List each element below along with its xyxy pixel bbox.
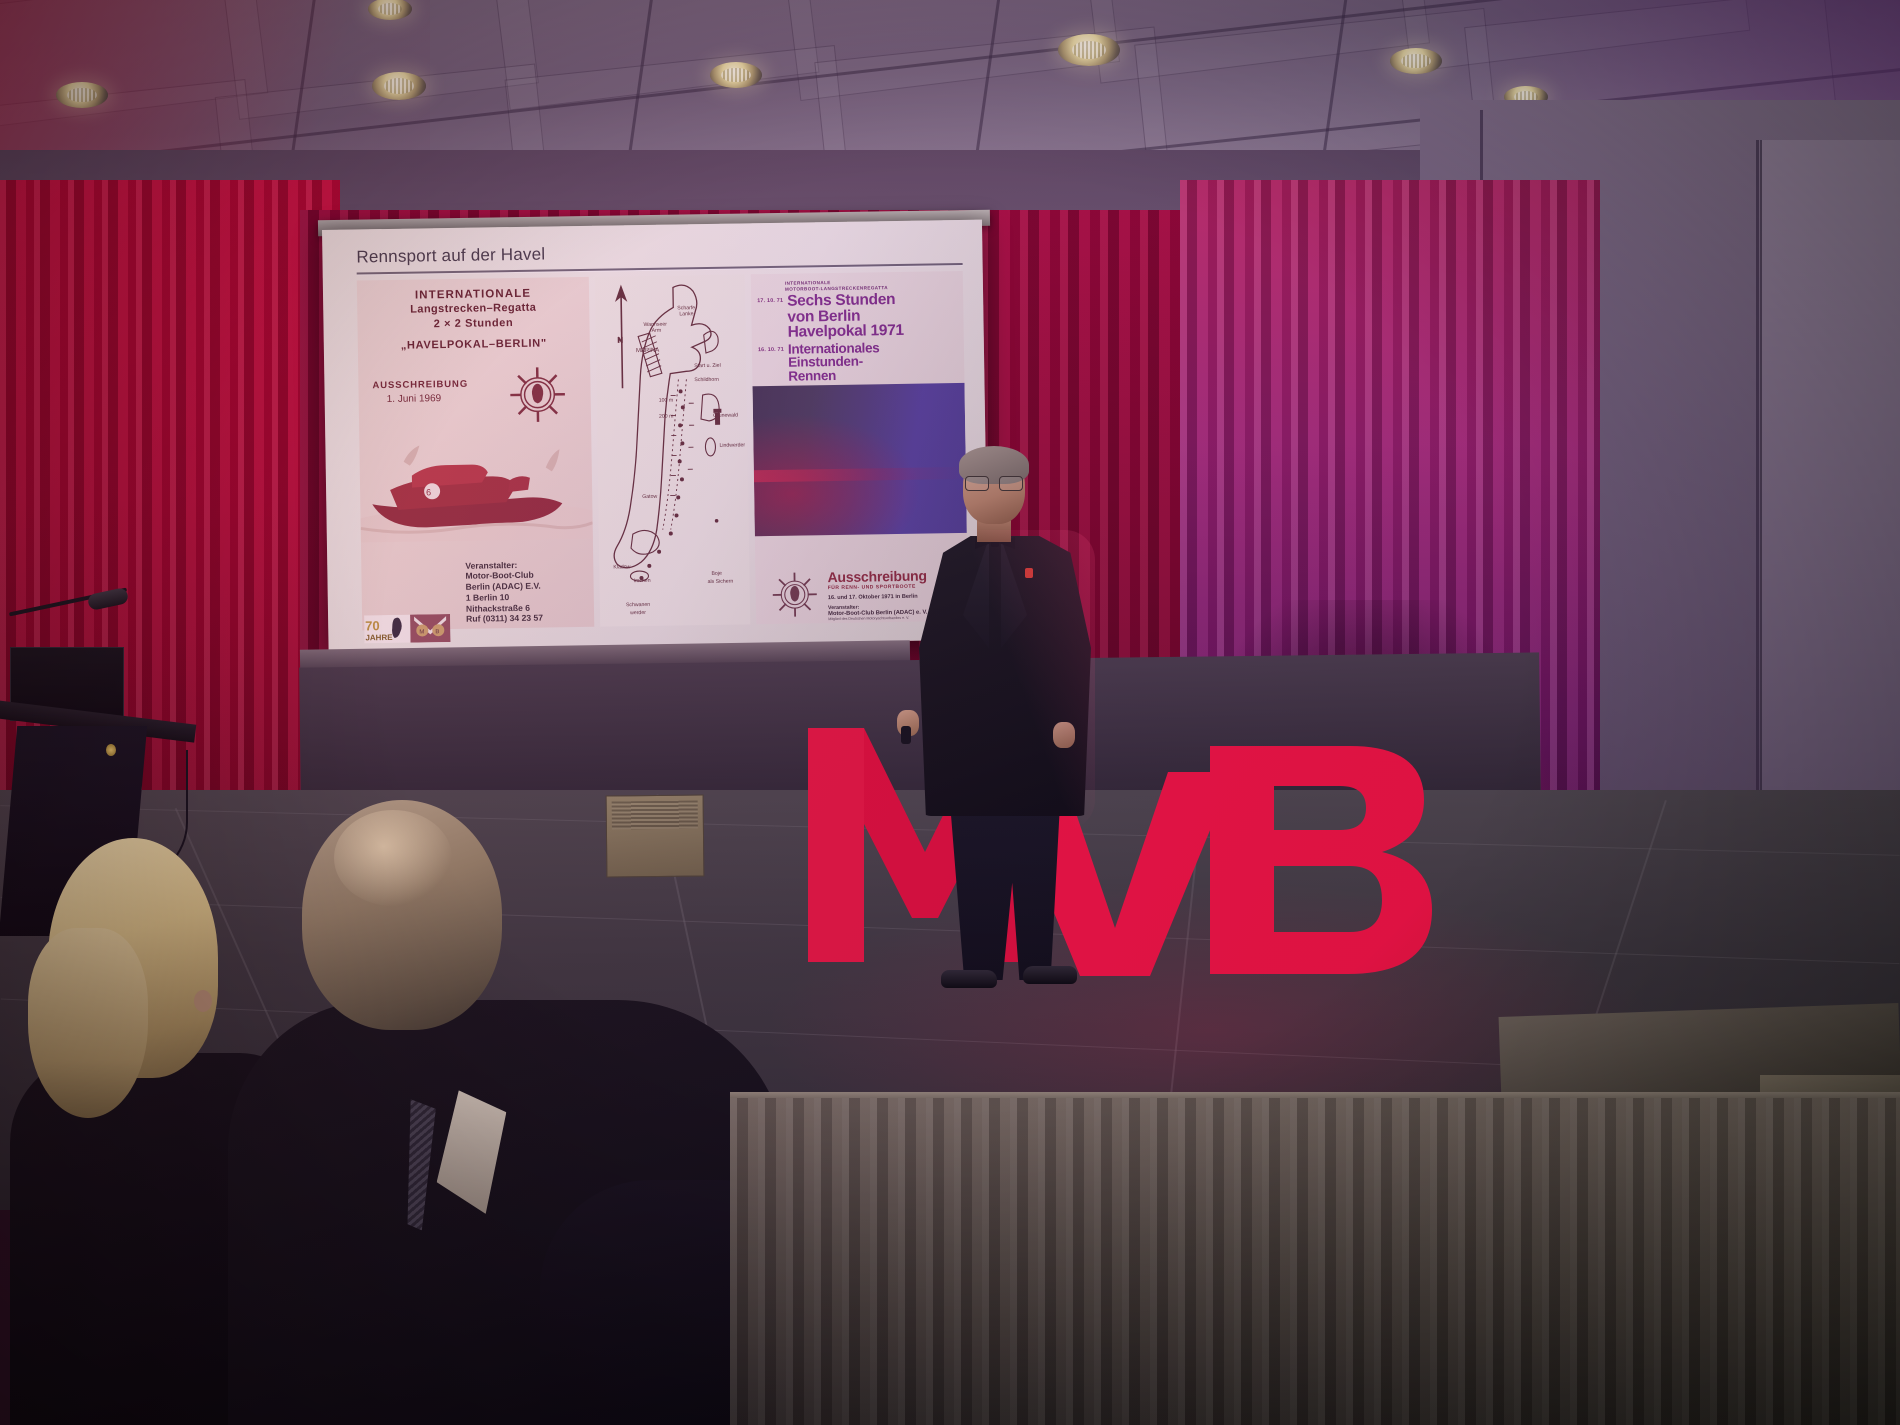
ceiling-downlight <box>1390 48 1442 74</box>
svg-text:JAHRE: JAHRE <box>365 633 393 642</box>
ceiling-downlight <box>56 82 108 108</box>
projection-screen: Rennsport auf der Havel INTERNATIONALE L… <box>322 220 989 650</box>
havel-course-map: N <box>595 274 750 626</box>
ships-wheel-emblem-icon <box>769 569 820 620</box>
svg-text:Gatow: Gatow <box>642 494 657 500</box>
presentation-slide: Rennsport auf der Havel INTERNATIONALE L… <box>322 220 989 650</box>
speaker-legs <box>945 800 1065 980</box>
ceiling-downlight <box>710 62 762 88</box>
slide-title: Rennsport auf der Havel <box>356 238 962 268</box>
speaker-shoe-left <box>941 970 997 988</box>
audience-woman-ear <box>194 990 212 1012</box>
ceiling-downlight <box>1058 34 1120 66</box>
eyeglasses-icon <box>965 476 1023 489</box>
racing-boat-illustration: 6 <box>359 429 593 543</box>
anniversary-badge: 70 JAHRE M B <box>364 614 450 643</box>
audience-member-woman <box>20 838 250 1425</box>
svg-text:B: B <box>435 629 439 635</box>
lapel-pin <box>1025 568 1033 578</box>
poster-havelpokal-1969: INTERNATIONALE Langstrecken–Regatta 2 × … <box>357 277 594 631</box>
speaker-person <box>905 450 1105 990</box>
event1-title-line1: Sechs Stunden <box>787 292 903 309</box>
left-poster-line2: Langstrecken–Regatta <box>357 301 589 317</box>
right-poster-kicker: INTERNATIONALE MOTORBOOT-LANGSTRECKENREG… <box>785 271 963 293</box>
photo-scene: Rennsport auf der Havel INTERNATIONALE L… <box>0 0 1900 1425</box>
ceiling-downlight <box>372 72 426 100</box>
svg-text:200 m: 200 m <box>659 414 674 420</box>
audience-man-scalp-highlight <box>334 810 452 906</box>
svg-text:6: 6 <box>426 487 431 497</box>
buffet-table-skirt <box>730 1098 1900 1425</box>
svg-text:Grunewald: Grunewald <box>713 412 738 418</box>
letter-b <box>1200 740 1460 980</box>
svg-text:M: M <box>419 629 424 635</box>
mvb-letters <box>800 690 1460 980</box>
70-jahre-bear-icon: 70 JAHRE <box>364 615 410 644</box>
map-drawing: N <box>595 274 750 626</box>
svg-text:Arm: Arm <box>652 328 662 334</box>
ships-wheel-emblem-icon <box>506 363 569 426</box>
presentation-clicker <box>901 726 911 744</box>
speaker-hand-right <box>1053 722 1075 748</box>
svg-text:werder: werder <box>630 610 646 616</box>
event2-date: 16. 10. 71 <box>752 343 788 354</box>
svg-text:Start u. Ziel: Start u. Ziel <box>694 363 721 369</box>
left-poster-line1: INTERNATIONALE <box>357 287 589 303</box>
left-poster-organizer-block: Veranstalter: Motor-Boot-Club Berlin (AD… <box>465 559 543 625</box>
svg-text:Kladow: Kladow <box>613 564 630 570</box>
event1-title-line3: Havelpokal 1971 <box>788 323 904 340</box>
speaker-shoe-right <box>1023 966 1077 984</box>
left-poster-line3: 2 × 2 Stunden <box>357 316 589 332</box>
audience-woman-hair-strands <box>28 928 148 1118</box>
organizer-line: Berlin (ADAC) E.V. <box>466 581 543 593</box>
left-poster-announcement-label: AUSSCHREIBUNG <box>372 379 468 392</box>
left-poster-announcement-date: 1. Juni 1969 <box>387 393 469 405</box>
svg-text:als Sichern: als Sichern <box>708 579 734 585</box>
svg-text:70: 70 <box>365 618 380 633</box>
svg-text:MARINA: MARINA <box>636 348 659 354</box>
svg-text:N: N <box>618 337 623 344</box>
event2-title-line3: Rennen <box>788 368 880 383</box>
svg-text:Boje: Boje <box>711 571 722 577</box>
mvb-club-emblem-icon: M B <box>410 614 450 643</box>
svg-text:Imchen: Imchen <box>634 578 651 584</box>
organizer-line: Ruf (0311) 34 23 57 <box>466 613 543 625</box>
svg-text:Schildhorn: Schildhorn <box>694 377 719 383</box>
svg-text:Lindwerder: Lindwerder <box>719 442 745 448</box>
left-poster-line4: „HAVELPOKAL–BERLIN" <box>358 337 590 353</box>
svg-text:100 m: 100 m <box>659 398 674 404</box>
event1-date: 17. 10. 71 <box>751 294 787 305</box>
svg-text:Schwanen: Schwanen <box>626 602 650 608</box>
svg-text:Lanke: Lanke <box>679 311 693 317</box>
